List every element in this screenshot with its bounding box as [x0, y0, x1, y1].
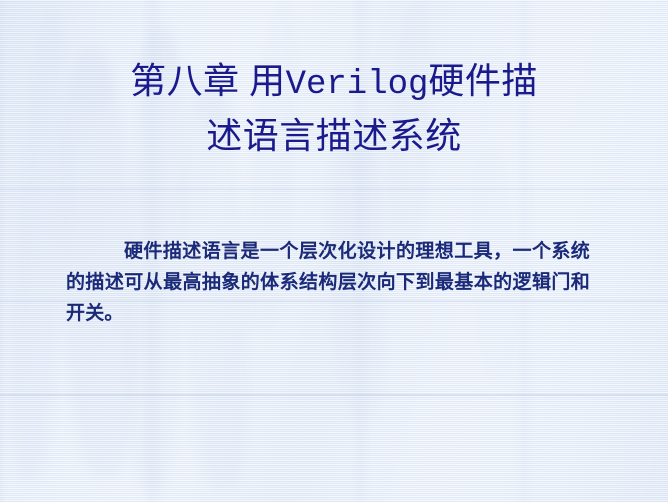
- slide-body-paragraph: 硬件描述语言是一个层次化设计的理想工具，一个系统的描述可从最高抽象的体系结构层次…: [66, 236, 590, 329]
- slide-title-verilog-word: Verilog: [286, 66, 429, 104]
- presentation-slide: 第八章 用Verilog硬件描述语言描述系统 硬件描述语言是一个层次化设计的理想…: [0, 0, 668, 502]
- slide-title: 第八章 用Verilog硬件描述语言描述系统: [48, 56, 620, 162]
- slide-title-line-2: 述语言描述系统: [206, 116, 462, 156]
- slide-title-suffix: 硬件描: [428, 61, 538, 101]
- slide-content: 第八章 用Verilog硬件描述语言描述系统 硬件描述语言是一个层次化设计的理想…: [0, 0, 668, 502]
- slide-title-prefix: 第八章 用: [130, 61, 286, 101]
